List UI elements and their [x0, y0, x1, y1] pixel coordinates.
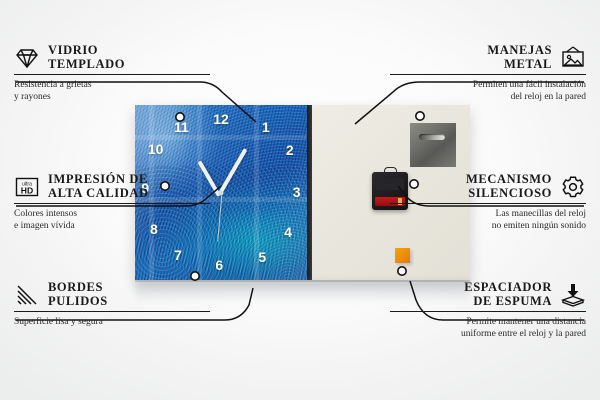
callout-desc-line2: uniforme entre el reloj y la pared: [390, 328, 586, 340]
clock-center-cap: [219, 190, 224, 195]
callout-desc-line1: Permiten una fácil instalación: [390, 75, 586, 91]
foam-spacer-icon: [560, 282, 586, 308]
callout-desc-line1: Colores intensos: [14, 204, 210, 220]
callout-desc-line1: Resistencia a grietas: [14, 75, 210, 91]
clock-hour-3: 3: [293, 185, 301, 199]
callout-header: VIDRIO TEMPLADO: [14, 44, 210, 74]
callout-desc-line1: Superficie lisa y segura: [14, 312, 210, 328]
callout-desc-line2: y rayones: [14, 91, 210, 103]
callout-header: ESPACIADOR DE ESPUMA: [390, 281, 586, 311]
clock-hour-1: 1: [262, 120, 270, 134]
callout-header: ultra HD IMPRESIÓN DE ALTA CALIDAD: [14, 173, 210, 203]
callout-title-line2: ALTA CALIDAD: [48, 187, 149, 201]
foam-spacer-pad: [395, 248, 410, 263]
hanger-slot: [419, 134, 445, 140]
callout-title-line1: BORDES: [48, 281, 108, 295]
callout-desc-line1: Las manecillas del reloj: [390, 204, 586, 220]
callout-manejas-metal[interactable]: MANEJAS METAL Permiten una fácil instala…: [390, 44, 586, 103]
callout-mecanismo-silencioso[interactable]: MECANISMO SILENCIOSO Las manecillas del …: [390, 173, 586, 232]
gear-icon: [560, 174, 586, 200]
callout-title-line2: SILENCIOSO: [466, 187, 552, 201]
callout-title-line1: IMPRESIÓN DE: [48, 173, 149, 187]
callout-desc-line2: del reloj en la pared: [390, 91, 586, 103]
clock-hour-11: 11: [174, 120, 189, 134]
clock-hour-12: 12: [213, 112, 229, 126]
callout-title-line2: METAL: [487, 58, 552, 72]
svg-text:HD: HD: [21, 185, 33, 195]
polished-edges-icon: [14, 282, 40, 308]
callout-header: MANEJAS METAL: [390, 44, 586, 74]
callout-desc-line2: no emiten ningún sonido: [390, 220, 586, 232]
callout-desc-line2: e imagen vívida: [14, 220, 210, 232]
callout-title-line2: PULIDOS: [48, 295, 108, 309]
metal-hanger-plate: [410, 123, 456, 167]
clock-hour-10: 10: [148, 142, 164, 156]
callout-espaciador-espuma[interactable]: ESPACIADOR DE ESPUMA Permite mantener un…: [390, 281, 586, 340]
clock-hour-2: 2: [286, 143, 294, 157]
callout-title-line2: TEMPLADO: [48, 58, 125, 72]
callout-title-line1: MANEJAS: [487, 44, 552, 58]
ultra-hd-icon: ultra HD: [14, 174, 40, 200]
callout-vidrio-templado[interactable]: VIDRIO TEMPLADO Resistencia a grietas y …: [14, 44, 210, 103]
callout-title-line1: ESPACIADOR: [464, 281, 552, 295]
callout-impresion-alta-calidad[interactable]: ultra HD IMPRESIÓN DE ALTA CALIDAD Color…: [14, 173, 210, 232]
callout-desc-line1: Permite mantener una distancia: [390, 312, 586, 328]
picture-frame-icon: [560, 45, 586, 71]
callout-bordes-pulidos[interactable]: BORDES PULIDOS Superficie lisa y segura: [14, 281, 210, 328]
diamond-icon: [14, 45, 40, 71]
callout-title-line1: VIDRIO: [48, 44, 125, 58]
clock-hour-6: 6: [215, 258, 223, 272]
clock-hour-5: 5: [258, 250, 266, 264]
callout-title-line1: MECANISMO: [466, 173, 552, 187]
callout-header: MECANISMO SILENCIOSO: [390, 173, 586, 203]
callout-title-line2: DE ESPUMA: [464, 295, 552, 309]
callout-header: BORDES PULIDOS: [14, 281, 210, 311]
clock-hour-4: 4: [284, 225, 292, 239]
clock-hour-7: 7: [174, 248, 182, 262]
infographic-canvas: 12 1 2 3 4 5 6 7 8 9 10 11: [0, 0, 600, 400]
